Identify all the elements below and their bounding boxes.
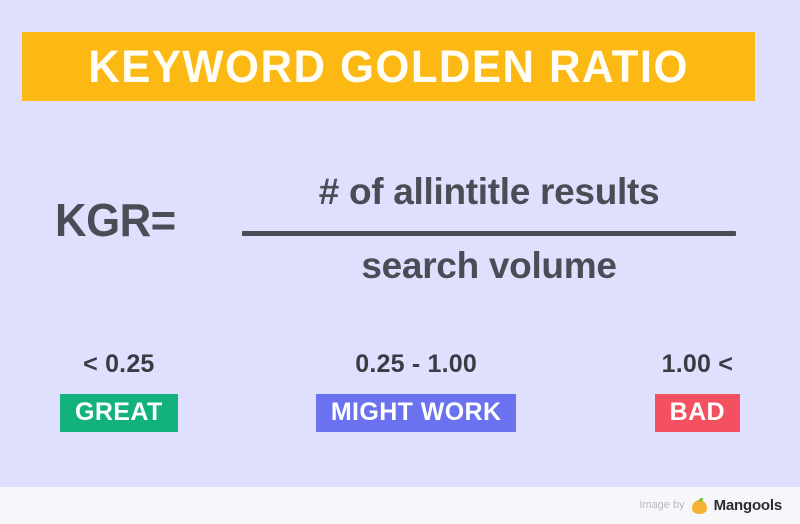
attribution-prefix: Image by <box>639 500 684 511</box>
fraction-bar <box>242 231 736 236</box>
range-item-might-work: 0.25 - 1.00 MIGHT WORK <box>316 352 517 432</box>
formula-left-hand-side: KGR= <box>55 197 176 243</box>
mango-icon <box>692 498 707 514</box>
title-banner: KEYWORD GOLDEN RATIO <box>22 32 755 101</box>
kgr-formula: KGR= # of allintitle results search volu… <box>0 170 800 305</box>
infographic-canvas: KEYWORD GOLDEN RATIO KGR= # of allintitl… <box>0 0 800 524</box>
range-item-great: < 0.25 GREAT <box>60 352 178 432</box>
formula-denominator: search volume <box>242 246 736 287</box>
status-badge: MIGHT WORK <box>316 394 517 432</box>
status-badge: BAD <box>655 394 740 432</box>
range-value: 1.00 < <box>662 352 733 377</box>
range-value: < 0.25 <box>83 352 154 377</box>
attribution: Image by Mangools <box>639 498 782 514</box>
formula-numerator: # of allintitle results <box>242 172 736 213</box>
range-legend: < 0.25 GREAT 0.25 - 1.00 MIGHT WORK 1.00… <box>60 352 740 442</box>
page-title: KEYWORD GOLDEN RATIO <box>88 44 689 89</box>
main-panel: KEYWORD GOLDEN RATIO KGR= # of allintitl… <box>0 0 800 487</box>
range-item-bad: 1.00 < BAD <box>655 352 740 432</box>
attribution-brand: Mangools <box>714 498 782 513</box>
formula-fraction: # of allintitle results search volume <box>242 170 736 305</box>
status-badge: GREAT <box>60 394 178 432</box>
footer-bar: Image by Mangools <box>0 487 800 524</box>
range-value: 0.25 - 1.00 <box>355 352 477 377</box>
